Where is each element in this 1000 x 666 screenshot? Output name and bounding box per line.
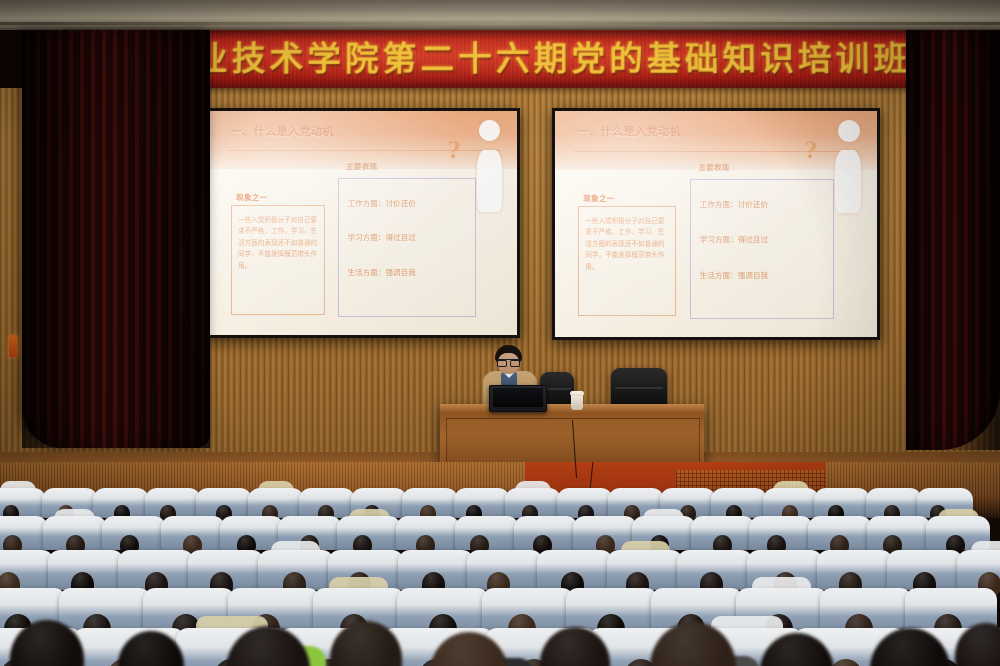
figure-head bbox=[479, 120, 500, 141]
slide-box-phenomenon: 现象之一 一些入党积极分子对自己要求不严格，工作、学习、生活方面的表现还不如普通… bbox=[578, 206, 677, 316]
laptop-icon bbox=[489, 385, 547, 412]
chair-seam bbox=[615, 387, 662, 389]
question-mark-glyph: ? bbox=[447, 140, 460, 162]
tea-cup-icon bbox=[571, 394, 583, 410]
stage-curtain-left bbox=[22, 30, 210, 448]
cup-lid bbox=[570, 391, 584, 396]
laptop-screen bbox=[493, 388, 543, 407]
projection-screen-right: 一、什么是入党动机 ? 现象之一 一些入党积极分子对自己要求不严格，工作、学习、… bbox=[552, 108, 880, 340]
list-item: 生活方面：强调自我 bbox=[700, 270, 828, 281]
slide-title: 一、什么是入党动机 bbox=[231, 123, 335, 139]
slide-box-phenomenon: 现象之一 一些入党积极分子对自己要求不严格，工作、学习、生活方面的表现还不如普通… bbox=[231, 205, 325, 315]
slide-box-manifestations: 主要表现 工作方面：讨价还价 学习方面：得过且过 生活方面：强调自我 bbox=[338, 178, 476, 317]
projection-screen-left: 一、什么是入党动机 ? 现象之一 一些入党积极分子对自己要求不严格，工作、学习、… bbox=[206, 108, 520, 338]
ceiling bbox=[0, 0, 1000, 34]
box-heading: 现象之一 bbox=[583, 193, 614, 204]
glasses-icon bbox=[497, 359, 520, 365]
banner-title: 正德职业技术学院第二十六期党的基础知识培训班 bbox=[81, 36, 1000, 82]
slide-left: 一、什么是入党动机 ? 现象之一 一些入党积极分子对自己要求不严格，工作、学习、… bbox=[209, 111, 517, 335]
slide-box-manifestations: 主要表现 工作方面：讨价还价 学习方面：得过且过 生活方面：强调自我 bbox=[690, 179, 834, 319]
stage-curtain-right bbox=[906, 30, 1000, 450]
box-heading: 现象之一 bbox=[236, 192, 267, 203]
curtain-shading bbox=[22, 30, 210, 448]
slide-title: 一、什么是入党动机 bbox=[578, 123, 682, 139]
list-item: 学习方面：得过且过 bbox=[700, 234, 828, 245]
question-mark-glyph: ? bbox=[804, 140, 817, 162]
exit-sign-icon bbox=[9, 335, 17, 357]
list-item: 工作方面：讨价还价 bbox=[347, 198, 469, 209]
figure-head bbox=[838, 120, 860, 142]
figure-body bbox=[835, 150, 861, 213]
box-item-list: 工作方面：讨价还价 学习方面：得过且过 生活方面：强调自我 bbox=[700, 199, 828, 305]
list-item: 学习方面：得过且过 bbox=[347, 232, 469, 243]
ceiling-trim bbox=[0, 22, 1000, 25]
auditorium-scene: 正德职业技术学院第二十六期党的基础知识培训班 一、什么是入党动机 ? 现象之一 … bbox=[0, 0, 1000, 666]
box-item-list: 工作方面：讨价还价 学习方面：得过且过 生活方面：强调自我 bbox=[347, 198, 469, 300]
chair-seam bbox=[543, 388, 572, 390]
box-heading: 主要表现 bbox=[698, 162, 729, 173]
box-body-text: 一些入党积极分子对自己要求不严格，工作、学习、生活方面的表现还不如普通的同学，不… bbox=[585, 216, 670, 274]
curtain-shading bbox=[906, 30, 1000, 450]
box-body-text: 一些入党积极分子对自己要求不严格，工作、学习、生活方面的表现还不如普通的同学，不… bbox=[238, 215, 319, 273]
figure-body bbox=[477, 150, 502, 212]
audience-area bbox=[0, 470, 1000, 666]
list-item: 生活方面：强调自我 bbox=[347, 267, 469, 278]
list-item: 工作方面：讨价还价 bbox=[700, 199, 828, 210]
slide-right: 一、什么是入党动机 ? 现象之一 一些入党积极分子对自己要求不严格，工作、学习、… bbox=[555, 111, 877, 337]
box-heading: 主要表现 bbox=[346, 161, 377, 172]
